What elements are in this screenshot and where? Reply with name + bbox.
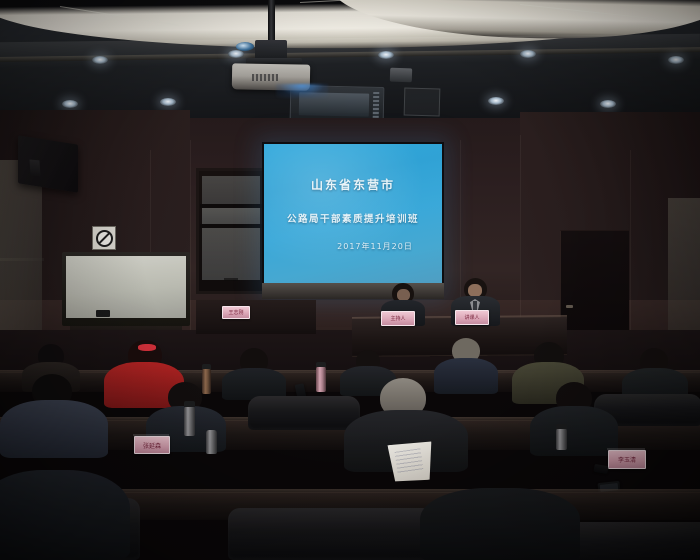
downlight-icon: [520, 50, 536, 58]
nameplate-holder: [607, 448, 645, 450]
no-smoking-symbol: [96, 230, 113, 247]
whiteboard-eraser[interactable]: [96, 310, 110, 317]
thermos-cap: [316, 362, 326, 367]
projector-pole: [268, 0, 275, 42]
nameplate-front-left: 张延森: [134, 436, 170, 454]
slide-subtitle: 公路局干部素质提升培训班: [287, 211, 419, 225]
plaster-seam: [0, 258, 44, 261]
window-mullion: [200, 204, 262, 208]
audience-body-foreground: [420, 488, 580, 560]
window-pane-upper: [202, 176, 260, 206]
nameplate-presenter-left: 主持人: [381, 311, 415, 326]
no-smoking-icon: [92, 226, 116, 250]
nameplate-stage-left: 王志刚: [222, 306, 250, 319]
speaker-grille: [29, 159, 40, 176]
projector-lens-icon: [236, 42, 254, 51]
downlight-icon: [228, 50, 244, 58]
downlight-icon: [160, 98, 176, 106]
no-smoking-slash: [98, 231, 110, 243]
downlight-icon: [92, 56, 108, 64]
door-handle[interactable]: [566, 305, 573, 308]
window-pane-lower: [202, 228, 260, 280]
thermos-cap: [556, 424, 567, 429]
wall-panel-seam: [520, 135, 521, 335]
mobile-phone[interactable]: [593, 464, 608, 474]
chair-back: [228, 508, 434, 560]
thermos-bottle[interactable]: [202, 368, 211, 394]
thermos-cap: [202, 364, 211, 369]
chair-back: [248, 396, 360, 430]
downlight-icon: [378, 51, 394, 59]
projector-vent: [252, 74, 278, 81]
thermos-bottle[interactable]: [556, 428, 567, 450]
nameplate-holder: [133, 434, 169, 436]
document-text-lines: [395, 448, 424, 473]
whiteboard: [66, 256, 186, 318]
slide-title: 山东省东营市: [311, 176, 395, 193]
downlight-icon: [488, 97, 504, 105]
conference-room-photo: 山东省东营市 公路局干部素质提升培训班 2017年11月20日 王志刚 主持人 …: [0, 0, 700, 560]
thermos-bottle[interactable]: [184, 406, 195, 436]
slide-content: 山东省东营市 公路局干部素质提升培训班 2017年11月20日: [264, 144, 442, 284]
audience-body: [434, 358, 498, 394]
projector-led-glow: [276, 84, 328, 98]
window-latch: [224, 278, 238, 281]
audience-body: [0, 400, 108, 458]
slide-date: 2017年11月20日: [337, 241, 413, 252]
ceiling-sensor-box: [390, 68, 412, 83]
downlight-icon: [668, 56, 684, 64]
wall-speaker: [18, 135, 78, 193]
thermos-bottle[interactable]: [206, 430, 217, 454]
downlight-icon: [600, 100, 616, 108]
audience-body-foreground: [0, 470, 130, 560]
stage-left-table: [196, 300, 316, 334]
nameplate-front-right: 李玉清: [608, 450, 646, 469]
window-mullion: [200, 224, 262, 228]
nameplate-presenter-right: 讲课人: [455, 310, 489, 325]
hair-clip: [138, 344, 156, 351]
ceiling-access-panel: [404, 88, 441, 117]
vent-slats: [373, 92, 380, 118]
thermos-cap: [184, 401, 195, 407]
audience-body: [530, 406, 618, 456]
thermos-bottle[interactable]: [316, 366, 326, 392]
downlight-icon: [62, 100, 78, 108]
wall-panel-seam: [630, 150, 631, 350]
screen-bottom-bar: [262, 283, 444, 299]
